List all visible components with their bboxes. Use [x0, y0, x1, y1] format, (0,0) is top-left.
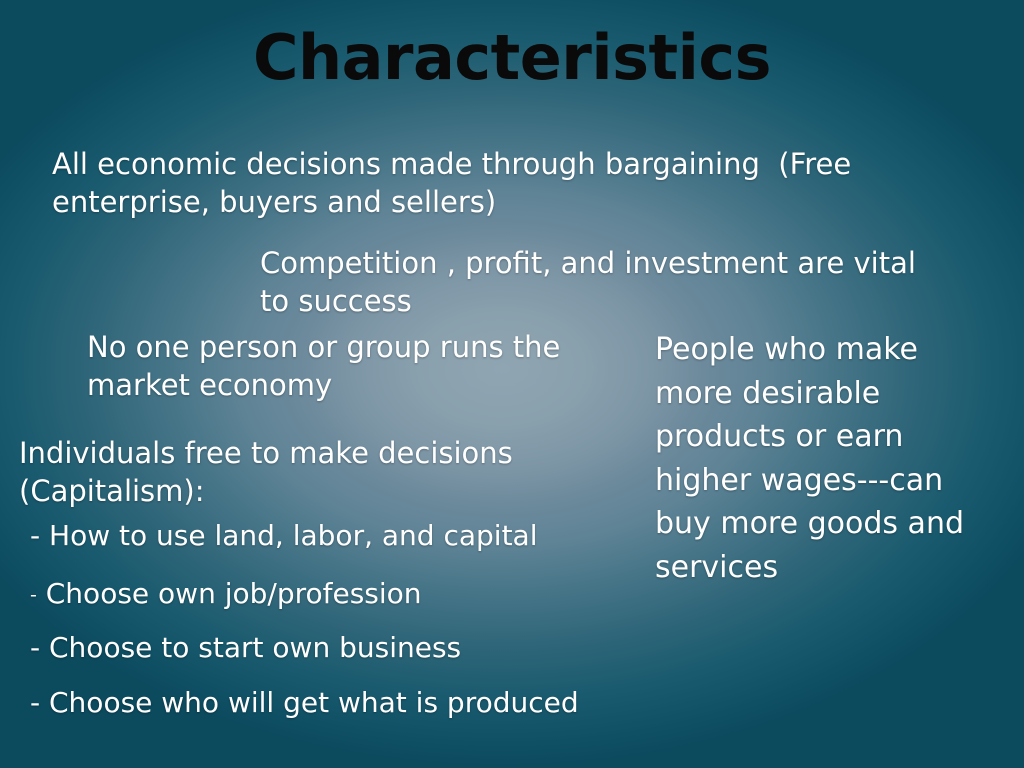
list-item: - Choose own job/profession: [30, 576, 670, 612]
text-block-individuals-capitalism: Individuals free to make decisions (Capi…: [19, 435, 579, 510]
list-item: - Choose to start own business: [30, 630, 670, 666]
list-item-label: Choose who will get what is produced: [40, 686, 579, 719]
list-item-label: How to use land, labor, and capital: [40, 519, 537, 552]
list-item-label: Choose to start own business: [40, 631, 461, 664]
dash-bullet-icon: -: [30, 584, 37, 606]
list-item: - How to use land, labor, and capital: [30, 518, 670, 554]
list-item-label: Choose own job/profession: [37, 577, 422, 610]
dash-bullet-icon: -: [30, 519, 40, 552]
list-item: - Choose who will get what is produced: [30, 685, 670, 721]
dash-bullet-icon: -: [30, 686, 40, 719]
text-block-bargaining: All economic decisions made through barg…: [52, 146, 932, 221]
dash-bullet-icon: -: [30, 631, 40, 664]
text-block-no-one-runs-market: No one person or group runs the market e…: [87, 329, 627, 404]
slide-canvas: Characteristics All economic decisions m…: [0, 0, 1024, 768]
text-block-people-who-make: People who make more desirable products …: [655, 328, 1005, 589]
text-block-competition: Competition , profit, and investment are…: [260, 245, 920, 320]
slide-title: Characteristics: [0, 22, 1024, 93]
sub-bullet-list: - How to use land, labor, and capital - …: [30, 518, 670, 721]
